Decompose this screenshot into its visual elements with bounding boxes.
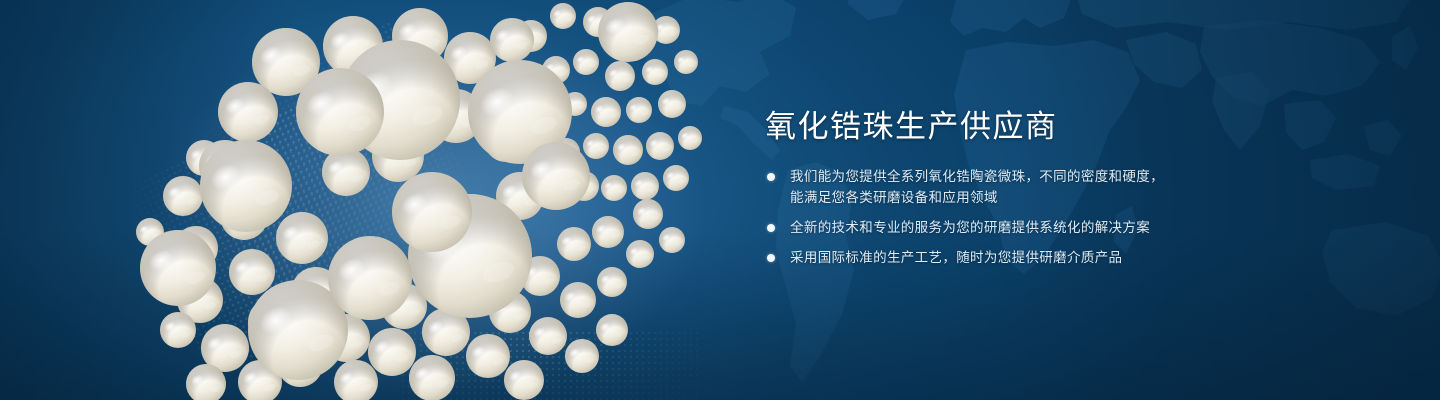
list-item: 我们能为您提供全系列氧化锆陶瓷微珠，不同的密度和硬度， 能满足您各类研磨设备和应… xyxy=(765,166,1405,208)
page-title: 氧化锆珠生产供应商 xyxy=(765,108,1405,146)
zirconia-bead-cluster-image xyxy=(0,0,760,400)
feature-bullet-list: 我们能为您提供全系列氧化锆陶瓷微珠，不同的密度和硬度， 能满足您各类研磨设备和应… xyxy=(765,166,1405,268)
bullet-line: 全新的技术和专业的服务为您的研磨提供系统化的解决方案 xyxy=(790,217,1405,238)
bullet-line: 我们能为您提供全系列氧化锆陶瓷微珠，不同的密度和硬度， xyxy=(790,166,1405,187)
banner-copy: 氧化锆珠生产供应商 我们能为您提供全系列氧化锆陶瓷微珠，不同的密度和硬度， 能满… xyxy=(765,108,1405,268)
bullet-dot-icon xyxy=(767,173,775,181)
list-item: 采用国际标准的生产工艺，随时为您提供研磨介质产品 xyxy=(765,247,1405,268)
bullet-dot-icon xyxy=(767,224,775,232)
list-item: 全新的技术和专业的服务为您的研磨提供系统化的解决方案 xyxy=(765,217,1405,238)
bullet-line: 采用国际标准的生产工艺，随时为您提供研磨介质产品 xyxy=(790,247,1405,268)
hero-banner: 氧化锆珠生产供应商 我们能为您提供全系列氧化锆陶瓷微珠，不同的密度和硬度， 能满… xyxy=(0,0,1440,400)
bullet-line: 能满足您各类研磨设备和应用领域 xyxy=(790,187,1405,208)
bullet-dot-icon xyxy=(767,254,775,262)
